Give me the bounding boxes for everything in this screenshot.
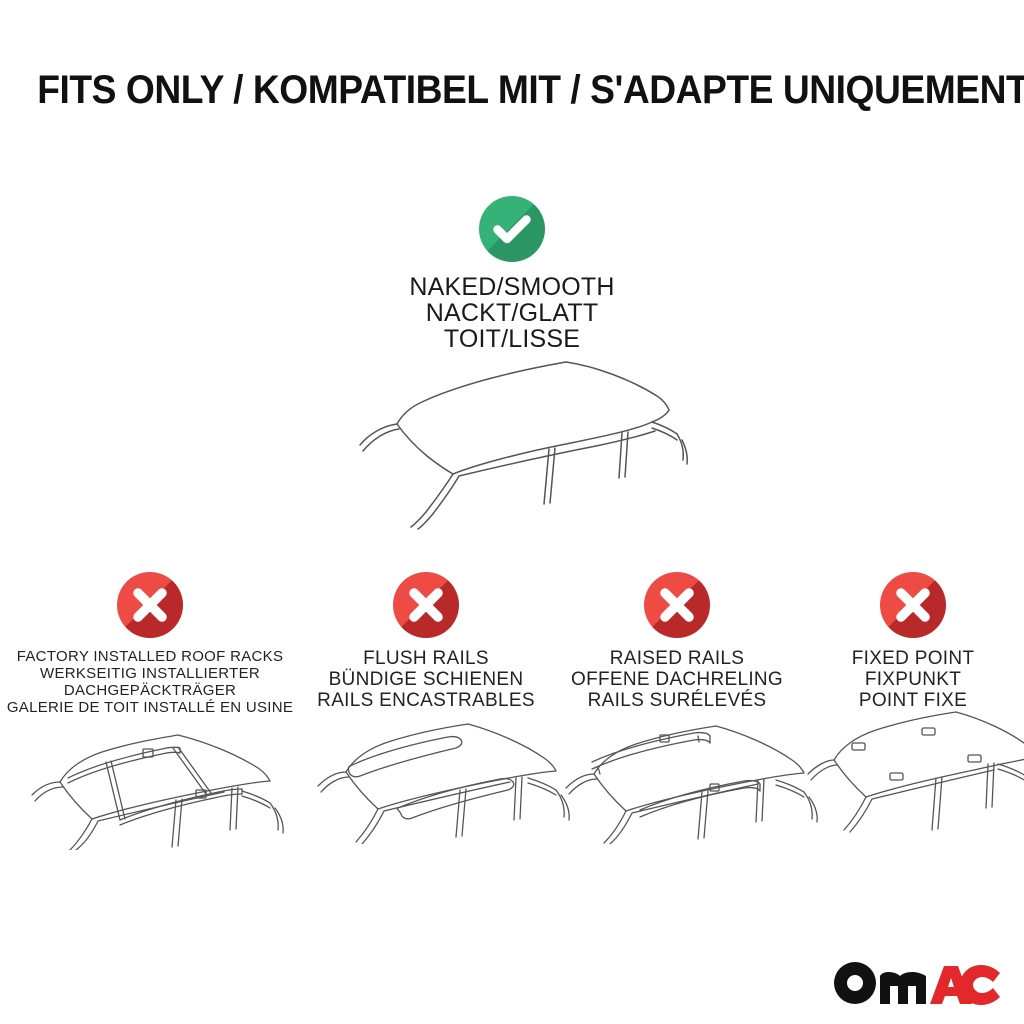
label-line-en: FACTORY INSTALLED ROOF RACKS (0, 648, 300, 665)
x-circle-icon (117, 572, 183, 638)
omac-logo (832, 960, 1002, 1006)
excluded-card-flush-rails: FLUSH RAILS BÜNDIGE SCHIENEN RAILS ENCAS… (300, 572, 552, 711)
label-line-de: BÜNDIGE SCHIENEN (300, 669, 552, 690)
factory-roof-rack-illustration (10, 720, 290, 850)
label-line-fr: RAILS SURÉLEVÉS (552, 690, 802, 711)
excluded-card-label: RAISED RAILS OFFENE DACHRELING RAILS SUR… (552, 648, 802, 711)
label-line-fr: GALERIE DE TOIT INSTALLÉ EN USINE (0, 699, 300, 716)
label-line-de: FIXPUNKT (802, 669, 1024, 690)
label-line-fr: TOIT/LISSE (332, 326, 692, 352)
excluded-card-label: FACTORY INSTALLED ROOF RACKS WERKSEITIG … (0, 648, 300, 716)
excluded-fitments-row: FACTORY INSTALLED ROOF RACKS WERKSEITIG … (0, 572, 1024, 716)
raised-rails-illustration (552, 714, 820, 844)
label-line-fr: RAILS ENCASTRABLES (300, 690, 552, 711)
excluded-card-raised-rails: RAISED RAILS OFFENE DACHRELING RAILS SUR… (552, 572, 802, 711)
x-circle-icon (644, 572, 710, 638)
label-line-en: FIXED POINT (802, 648, 1024, 669)
x-circle-icon (393, 572, 459, 638)
flush-rails-illustration (302, 714, 572, 844)
excluded-card-label: FLUSH RAILS BÜNDIGE SCHIENEN RAILS ENCAS… (300, 648, 552, 711)
check-circle-icon (479, 196, 545, 262)
label-line-de: OFFENE DACHRELING (552, 669, 802, 690)
label-line-en: FLUSH RAILS (300, 648, 552, 669)
primary-fitment-label: NAKED/SMOOTH NACKT/GLATT TOIT/LISSE (332, 274, 692, 352)
excluded-card-fixed-point: FIXED POINT FIXPUNKT POINT FIXE (802, 572, 1024, 711)
label-line-de-1: WERKSEITIG INSTALLIERTER (0, 665, 300, 682)
fitment-infographic: FITS ONLY / KOMPATIBEL MIT / S'ADAPTE UN… (0, 0, 1024, 1024)
label-line-en: NAKED/SMOOTH (332, 274, 692, 300)
primary-fitment-block: NAKED/SMOOTH NACKT/GLATT TOIT/LISSE (332, 196, 692, 352)
page-title-text: FITS ONLY / KOMPATIBEL MIT / S'ADAPTE UN… (37, 68, 1024, 113)
page-title: FITS ONLY / KOMPATIBEL MIT / S'ADAPTE UN… (0, 68, 1024, 113)
naked-smooth-roof-illustration (330, 352, 702, 530)
x-circle-icon (880, 572, 946, 638)
excluded-card-factory-roof-racks: FACTORY INSTALLED ROOF RACKS WERKSEITIG … (0, 572, 300, 716)
label-line-en: RAISED RAILS (552, 648, 802, 669)
label-line-de: NACKT/GLATT (332, 300, 692, 326)
label-line-de-2: DACHGEPÄCKTRÄGER (0, 682, 300, 699)
fixed-point-illustration (802, 702, 1024, 842)
